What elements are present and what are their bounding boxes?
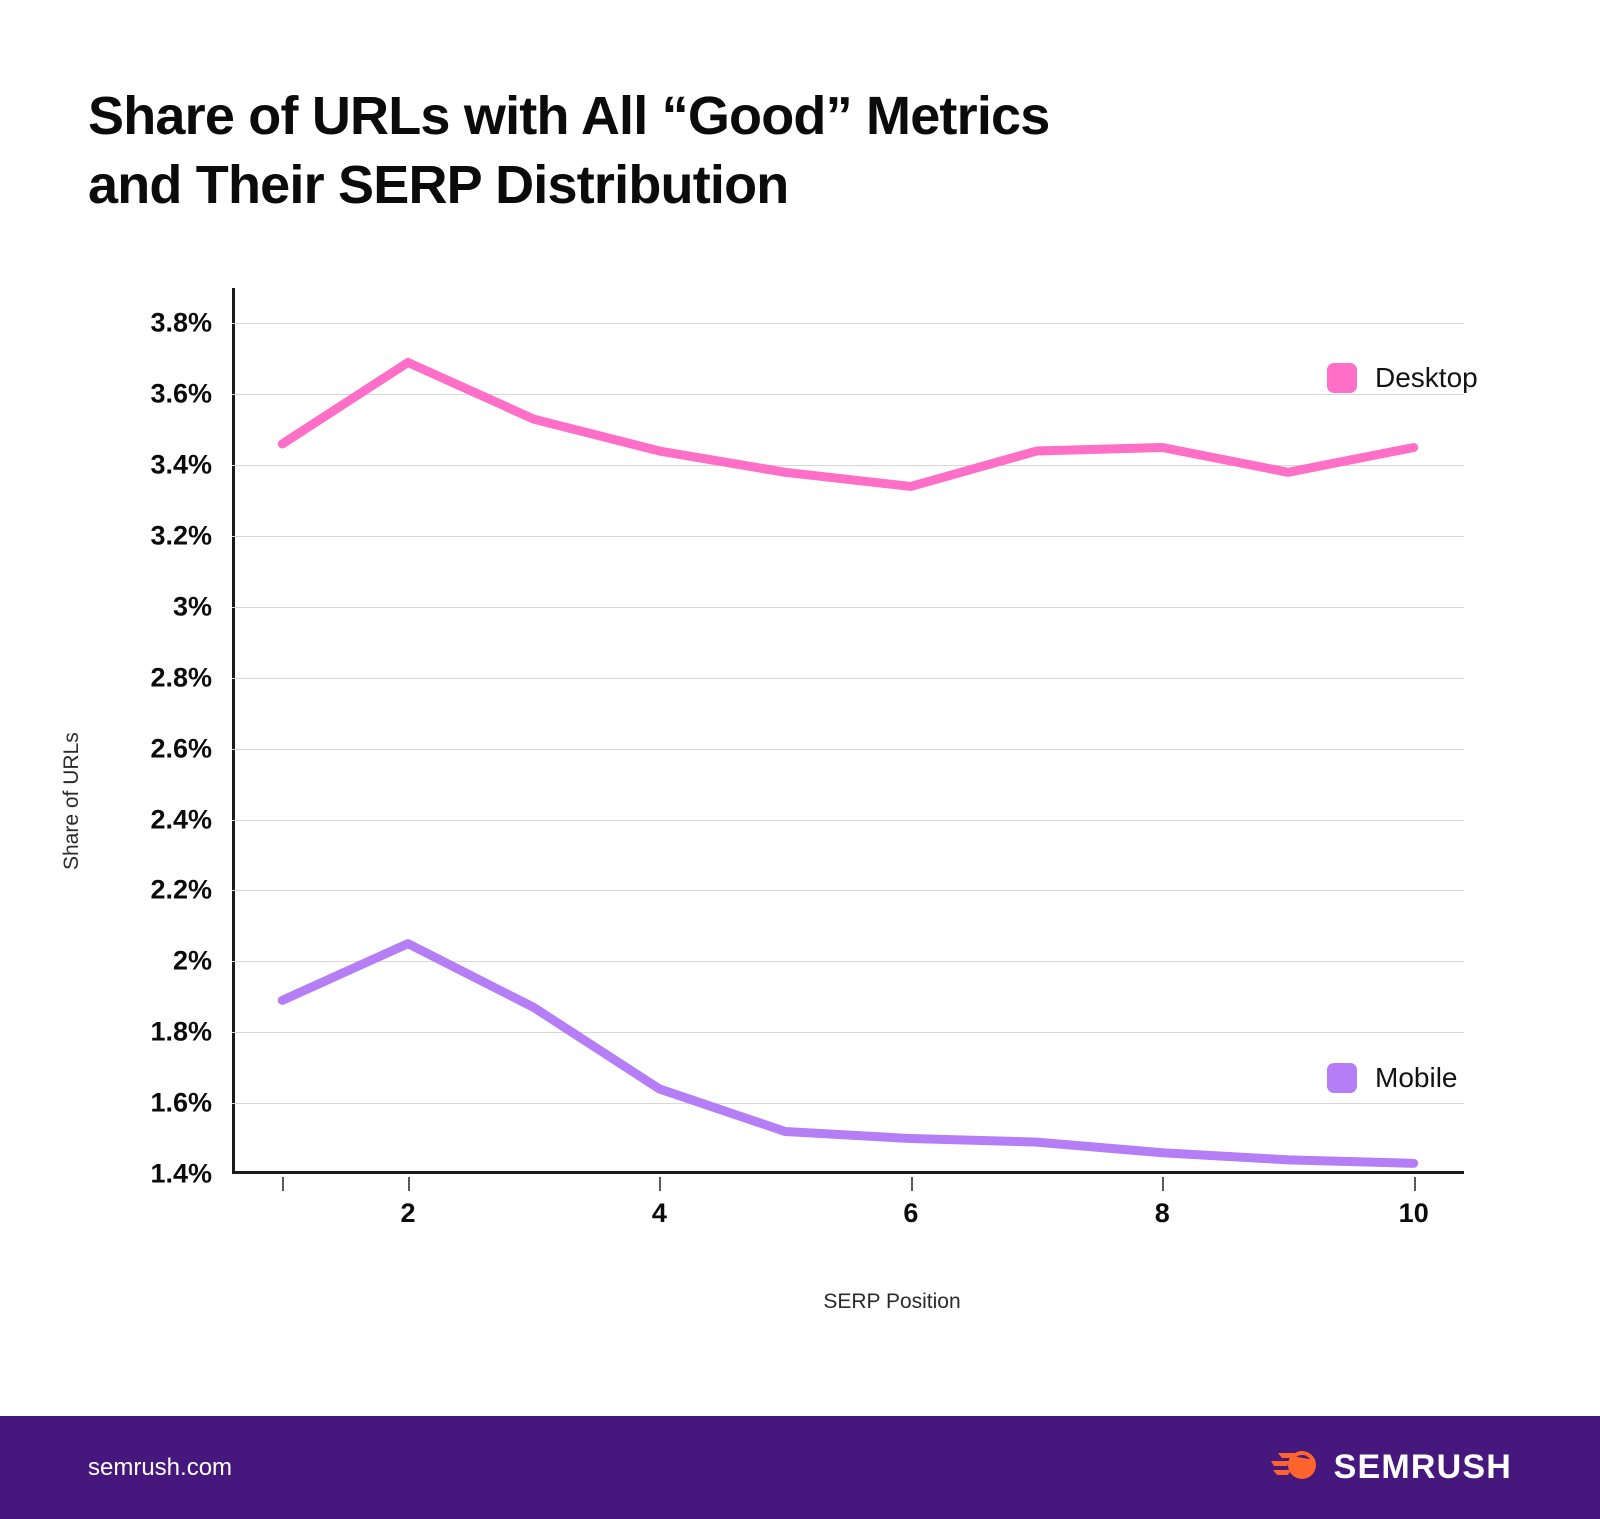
x-axis-tick-label: 6 (871, 1198, 951, 1229)
x-axis-tick-mark (408, 1177, 410, 1191)
y-axis-tick-label: 1.6% (52, 1088, 212, 1119)
legend-swatch-desktop (1327, 363, 1357, 393)
x-axis-tick-mark (282, 1177, 284, 1191)
x-axis-tick-label: 10 (1374, 1198, 1454, 1229)
legend-swatch-mobile (1327, 1063, 1357, 1093)
x-axis-tick-label: 8 (1122, 1198, 1202, 1229)
series-layer (232, 288, 1464, 1174)
x-axis-tick-mark (659, 1177, 661, 1191)
legend-item-desktop[interactable]: Desktop (1327, 362, 1478, 394)
semrush-comet-icon (1270, 1448, 1320, 1487)
x-axis-tick-mark (1414, 1177, 1416, 1191)
y-axis-tick-label: 1.8% (52, 1017, 212, 1048)
x-axis-tick-mark (911, 1177, 913, 1191)
y-axis-tick-label: 3% (52, 591, 212, 622)
x-axis-title: SERP Position (0, 1290, 1600, 1314)
y-axis-tick-label: 1.4% (52, 1159, 212, 1190)
series-line-desktop (282, 362, 1413, 486)
x-axis-tick-label: 2 (368, 1198, 448, 1229)
legend-item-mobile[interactable]: Mobile (1327, 1062, 1457, 1094)
semrush-logo[interactable]: SEMRUSH (1270, 1448, 1512, 1487)
y-axis-tick-label: 2% (52, 946, 212, 977)
y-axis-tick-label: 2.8% (52, 662, 212, 693)
footer-website-url[interactable]: semrush.com (88, 1454, 232, 1482)
legend-label-mobile: Mobile (1375, 1062, 1457, 1094)
y-axis-tick-label: 2.2% (52, 875, 212, 906)
y-axis-title: Share of URLs (60, 732, 84, 870)
semrush-wordmark: SEMRUSH (1334, 1448, 1512, 1487)
footer-bar: semrush.com SEMRUSH (0, 1416, 1600, 1519)
x-axis-tick-label: 4 (619, 1198, 699, 1229)
legend-label-desktop: Desktop (1375, 362, 1478, 394)
y-axis-tick-label: 3.4% (52, 450, 212, 481)
y-axis-tick-label: 3.2% (52, 521, 212, 552)
y-axis-tick-label: 3.8% (52, 308, 212, 339)
chart-page: Share of URLs with All “Good” Metrics an… (0, 0, 1600, 1519)
page-title: Share of URLs with All “Good” Metrics an… (88, 82, 1338, 220)
x-axis-tick-mark (1162, 1177, 1164, 1191)
series-line-mobile (282, 944, 1413, 1164)
y-axis-tick-label: 3.6% (52, 379, 212, 410)
